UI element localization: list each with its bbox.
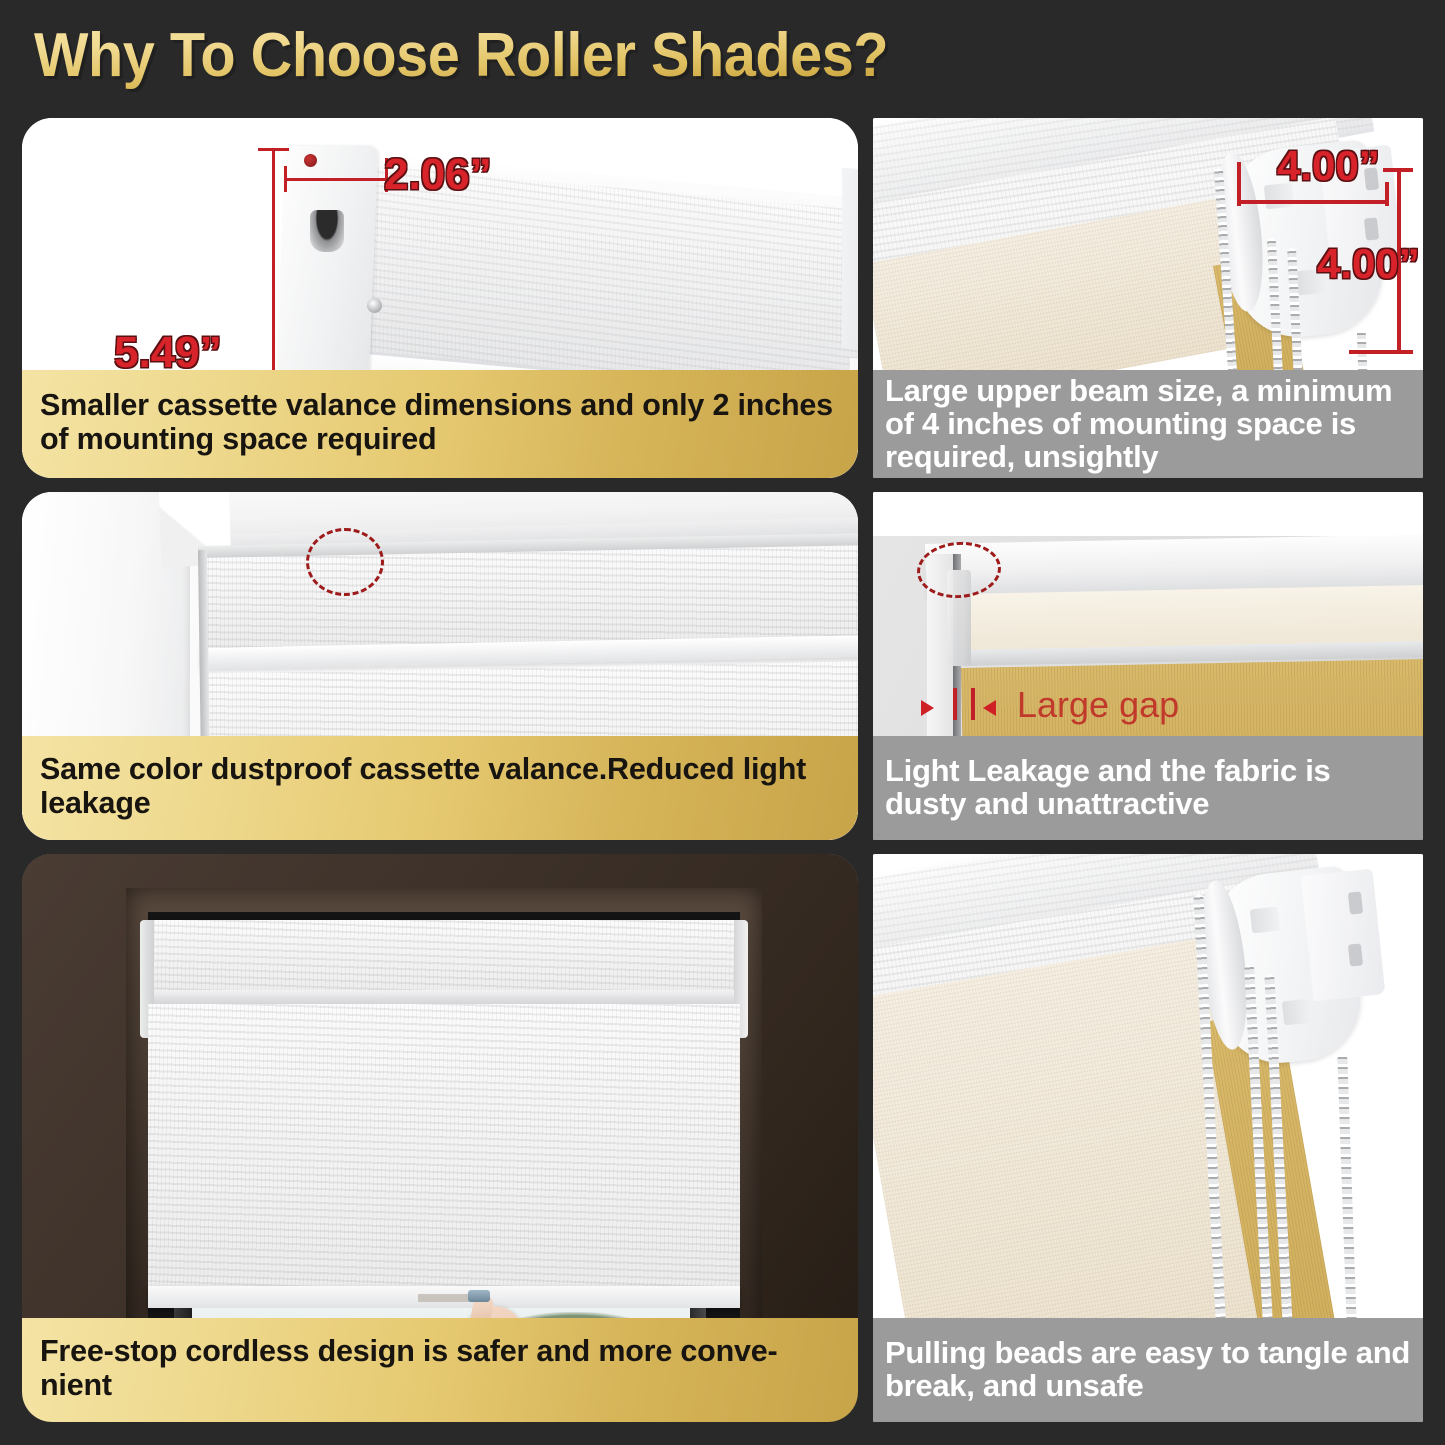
width-dimension-label: 2.06”	[384, 150, 492, 200]
bracket-icon-down	[1282, 999, 1312, 1026]
bracket-slot-upper	[310, 210, 344, 252]
highlight-circle-icon	[306, 528, 384, 596]
gap-arrow-right-icon	[983, 700, 996, 716]
bracket-mount-plate	[1301, 869, 1386, 1002]
beam-width-cap-right	[1385, 182, 1389, 206]
caption-text: Same color dustproof cassette valance.Re…	[40, 752, 842, 820]
panel-pulling-beads: Pulling beads are easy to tangle and bre…	[873, 854, 1423, 1422]
caption-text: Large upper beam size, a minimum of 4 in…	[885, 374, 1413, 473]
caption-bar-light-leakage: Light Leakage and the fabric is dusty an…	[873, 736, 1423, 840]
beam-height-label: 4.00”	[1317, 240, 1420, 288]
panel-dustproof-valance: smaller gap Same color dustproof cassett…	[22, 492, 858, 840]
bracket-icon-up	[1250, 907, 1280, 934]
bracket-screw-top	[304, 154, 317, 167]
ceiling-band	[873, 492, 1423, 536]
caption-bar-cordless-design: Free-stop cordless design is safer and m…	[22, 1318, 858, 1422]
beam-width-dimension-line	[1238, 200, 1388, 204]
beam-height-cap-top	[1383, 168, 1413, 172]
shade-fabric-main	[148, 1004, 740, 1296]
gap-annotation-label: Large gap	[1017, 684, 1179, 726]
caption-text: Light Leakage and the fabric is dusty an…	[885, 754, 1413, 820]
page-title: Why To Choose Roller Shades?	[34, 16, 888, 96]
caption-bar-dustproof-valance: Same color dustproof cassette valance.Re…	[22, 736, 858, 840]
caption-bar-large-upper-beam: Large upper beam size, a minimum of 4 in…	[873, 370, 1423, 478]
panel-light-leakage: Large gap Light Leakage and the fabric i…	[873, 492, 1423, 840]
caption-bar-pulling-beads: Pulling beads are easy to tangle and bre…	[873, 1318, 1423, 1422]
panel-cassette-dimensions: 5.49” 2.06” Smaller cassette valance dim…	[22, 118, 858, 478]
width-dimension-line	[284, 178, 388, 181]
caption-text: Pulling beads are easy to tangle and bre…	[885, 1336, 1413, 1402]
beam-width-cap-left	[1237, 162, 1241, 206]
valance-right-cap	[842, 168, 858, 353]
title-bar: Why To Choose Roller Shades? Why To Choo…	[0, 0, 1445, 112]
caption-text: Smaller cassette valance dimensions and …	[40, 388, 842, 456]
shade-pull-handle	[468, 1290, 490, 1302]
gap-arrow-left-icon	[921, 700, 934, 716]
width-dimension-cap-left	[284, 166, 287, 192]
bracket-slot-2	[1364, 217, 1379, 240]
gap-tick-1	[953, 688, 957, 720]
bracket-slot-1	[1348, 891, 1363, 914]
gap-tick-2	[971, 688, 975, 720]
beam-height-cap-bottom	[1349, 350, 1413, 354]
headrail-lip	[146, 990, 742, 1004]
shade-brand-tag	[418, 1294, 470, 1302]
bracket-slot-2	[1348, 943, 1363, 966]
panel-large-upper-beam: 4.00” 4.00” Large upper beam size, a min…	[873, 118, 1423, 478]
panel-cordless-design: Free-stop cordless design is safer and m…	[22, 854, 858, 1422]
bracket-screw-mid	[367, 298, 382, 313]
caption-text: Free-stop cordless design is safer and m…	[40, 1334, 842, 1402]
beam-width-label: 4.00”	[1277, 142, 1380, 190]
shade-headrail	[146, 920, 742, 996]
height-dimension-cap-top	[258, 148, 289, 151]
caption-bar-cassette-dimensions: Smaller cassette valance dimensions and …	[22, 370, 858, 478]
